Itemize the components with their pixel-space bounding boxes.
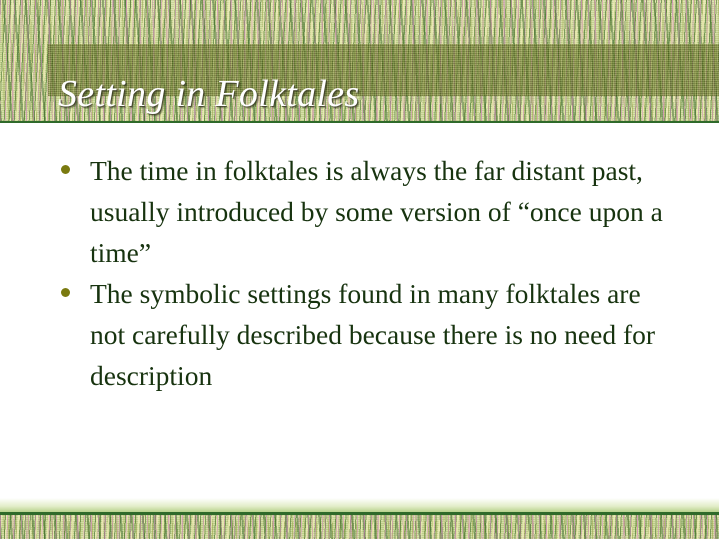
footer-gradient-band [0, 498, 719, 513]
bullet-marker-icon [61, 165, 70, 174]
bullet-list: The time in folktales is always the far … [56, 150, 676, 396]
bullet-marker-icon [61, 288, 70, 297]
presentation-slide: Setting in Folktales The time in folktal… [0, 0, 719, 539]
list-item-text: The time in folktales is always the far … [90, 155, 663, 268]
list-item-text: The symbolic settings found in many folk… [90, 278, 655, 391]
list-item: The time in folktales is always the far … [56, 150, 676, 273]
slide-title: Setting in Folktales [58, 64, 698, 124]
slide-body: The time in folktales is always the far … [0, 123, 719, 500]
footer-grass-texture [0, 515, 719, 539]
list-item: The symbolic settings found in many folk… [56, 273, 676, 396]
